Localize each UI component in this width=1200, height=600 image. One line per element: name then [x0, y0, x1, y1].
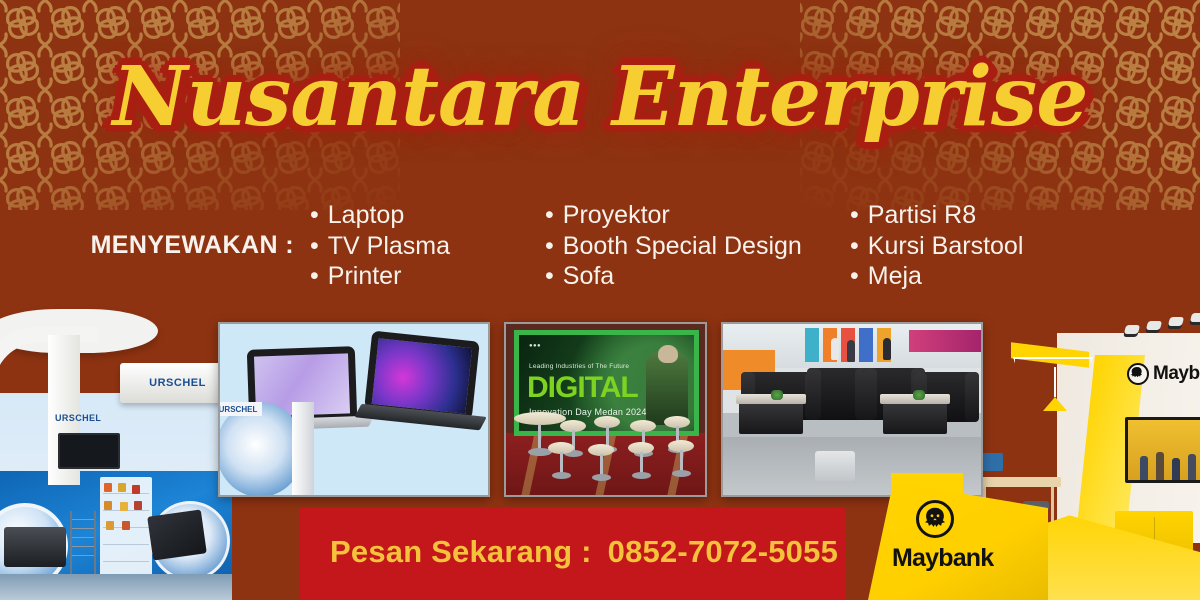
maybank-wall-wordmark: Maybank: [1153, 363, 1200, 385]
maybank-counter-wordmark: Maybank: [892, 544, 993, 573]
service-item-label: Laptop: [328, 200, 404, 231]
list-item: •Sofa: [545, 261, 850, 292]
list-item: •TV Plasma: [310, 231, 545, 262]
urschel-booth-sign: URSCHEL: [120, 363, 232, 403]
list-item: •Laptop: [310, 200, 545, 231]
banner-brand-mark: ●●●: [529, 343, 541, 349]
booth-wall-screen: [1125, 417, 1200, 483]
service-item-label: Sofa: [563, 261, 614, 292]
bullet-icon: •: [310, 264, 319, 289]
table-plant: [913, 390, 925, 400]
coffee-table-left: [739, 400, 803, 434]
service-item-label: TV Plasma: [328, 231, 450, 262]
metal-rack: [70, 511, 96, 581]
barstool: [668, 440, 694, 452]
services-label: MENYEWAKAN :: [0, 231, 310, 260]
coffee-table-right: [883, 400, 947, 434]
bullet-icon: •: [545, 234, 554, 259]
bullet-icon: •: [850, 203, 859, 228]
list-item: •Kursi Barstool: [850, 231, 1150, 262]
urschel-booth-photo: URSCHEL URSCHEL: [0, 305, 232, 600]
services-section: MENYEWAKAN : •Laptop •TV Plasma •Printer…: [0, 190, 1200, 300]
list-item: •Proyektor: [545, 200, 850, 231]
service-item-label: Partisi R8: [868, 200, 976, 231]
promotional-banner: URSCHEL URSCHEL M: [0, 0, 1200, 600]
urschel-thumb-label: URSCHEL: [218, 402, 262, 416]
service-column-2: •Proyektor •Booth Special Design •Sofa: [545, 198, 850, 292]
list-item: •Meja: [850, 261, 1150, 292]
list-item: •Booth Special Design: [545, 231, 850, 262]
desk-monitor: [981, 453, 1003, 471]
cta-content: Pesan Sekarang :0852-7072-5055: [330, 534, 850, 570]
barstool: [630, 420, 656, 432]
service-item-label: Printer: [328, 261, 402, 292]
visitor-figure: [883, 338, 891, 360]
cta-phone-number: 0852-7072-5055: [608, 534, 838, 569]
banner-tagline: Leading Industries of The Future: [529, 363, 629, 370]
urschel-column-logo: URSCHEL: [55, 413, 101, 423]
bullet-icon: •: [545, 264, 554, 289]
table-plant: [771, 390, 783, 400]
barstool: [548, 442, 574, 454]
barstool: [594, 416, 620, 428]
machine-unit-left: [4, 527, 66, 567]
meeting-table: [975, 477, 1061, 487]
urschel-booth-sign-label: URSCHEL: [149, 377, 206, 389]
service-column-3: •Partisi R8 •Kursi Barstool •Meja: [850, 198, 1150, 292]
list-item: •Partisi R8: [850, 200, 1150, 231]
visitor-figure: [831, 338, 839, 360]
bullet-icon: •: [850, 264, 859, 289]
machine-unit-right: [147, 509, 207, 560]
sofa-lounge-thumbnail: [721, 322, 983, 497]
banner-headline: DIGITAL: [527, 371, 638, 405]
bullet-icon: •: [850, 234, 859, 259]
list-item: •Printer: [310, 261, 545, 292]
service-item-label: Meja: [868, 261, 922, 292]
product-shelf: [100, 477, 152, 583]
maybank-tiger-logo-icon: [916, 500, 954, 538]
sofa-center-left: [807, 368, 869, 420]
barstool: [560, 420, 586, 432]
bullet-icon: •: [310, 203, 319, 228]
service-column-1: •Laptop •TV Plasma •Printer: [310, 198, 545, 292]
booth-tv-screen: [58, 433, 120, 469]
banner-title: Nusantara Enterprise: [113, 56, 1088, 138]
bullet-icon: •: [545, 203, 554, 228]
visitor-figure: [847, 340, 855, 362]
laptops-thumbnail: URSCHEL: [218, 322, 490, 497]
barstool: [664, 416, 690, 428]
service-item-label: Proyektor: [563, 200, 670, 231]
laptop-black: [364, 331, 480, 420]
banner-title-wrap: Nusantara Enterprise: [0, 56, 1200, 138]
barstool: [588, 444, 614, 456]
pendant-lamp-icon: [1043, 397, 1067, 411]
foreground-laptop: [815, 451, 855, 481]
service-item-label: Kursi Barstool: [868, 231, 1024, 262]
photo-thumbnails: URSCHEL ●●● Leading Industries of The Fu…: [218, 322, 983, 497]
bullet-icon: •: [310, 234, 319, 259]
digital-booth-thumbnail: ●●● Leading Industries of The Future DIG…: [504, 322, 707, 497]
maybank-tiger-logo-wall-icon: [1127, 363, 1149, 385]
cta-label: Pesan Sekarang :: [330, 534, 592, 569]
service-item-label: Booth Special Design: [563, 231, 802, 262]
barstool: [628, 442, 654, 454]
